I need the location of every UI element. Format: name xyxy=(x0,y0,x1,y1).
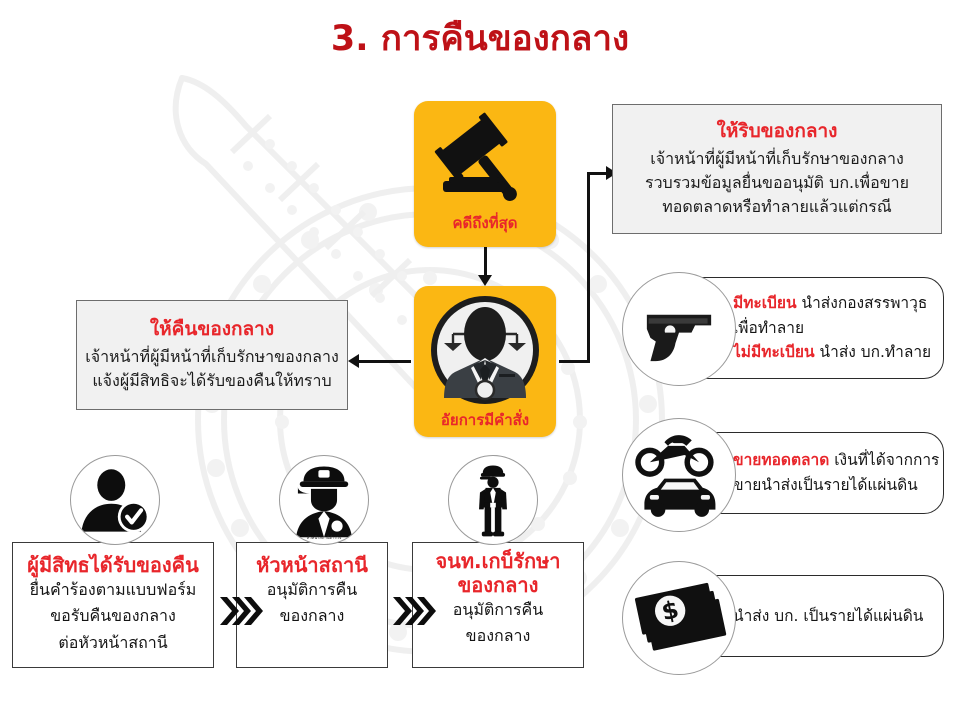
prosecutor-scales-icon xyxy=(429,294,541,406)
vehicle-line-2-text: ขายนำส่งเป็นรายได้แผ่นดิน xyxy=(733,476,918,494)
evidence-officer-line-2: ของกลาง xyxy=(466,623,531,649)
person-check-icon-badge xyxy=(70,455,160,545)
firearm-line-3: ไม่มีทะเบียน นำส่ง บก.ทำลาย xyxy=(733,340,943,365)
node-prosecutor-caption: อัยการมีคำสั่ง xyxy=(414,408,556,432)
return-heading: ให้คืนของกลาง xyxy=(150,317,274,343)
gavel-icon xyxy=(431,111,539,211)
node-case-final[interactable]: คดีถึงที่สุด xyxy=(414,101,556,247)
connector-prosecutor-right-stub xyxy=(559,360,590,363)
cash-dollar-icon-badge: $ xyxy=(622,561,736,675)
page-title: 3. การคืนของกลาง xyxy=(0,18,960,62)
arrowhead-down-prosecutor xyxy=(478,275,492,286)
step-separator-2 xyxy=(391,594,437,628)
return-line-2: แจ้งผู้มีสิทธิจะได้รับของคืนให้ทราบ xyxy=(92,369,331,393)
svg-text:หัวหน้าสถานีตำรวจ: หัวหน้าสถานีตำรวจ xyxy=(307,535,342,540)
handgun-icon xyxy=(629,279,729,379)
connector-prosecutor-to-return xyxy=(356,360,411,363)
rightful-owner-heading: ผู้มีสิทธได้รับของคืน xyxy=(27,553,198,577)
person-check-icon xyxy=(74,459,156,541)
motorcycle-car-icon xyxy=(628,424,730,526)
firearm-line-1: มีทะเบียน นำส่งกองสรรพาวุธ xyxy=(733,291,943,316)
step-box-evidence-officer: จนท.เกบ็รักษา ของกลาง อนุมัติการคืน ของก… xyxy=(412,542,584,668)
vehicle-line-1-emphasis: ขายทอดตลาด xyxy=(733,451,829,469)
node-prosecutor-order[interactable]: อัยการมีคำสั่ง xyxy=(414,286,556,437)
firearm-line-2: เพื่อทำลาย xyxy=(733,316,943,341)
money-line-1-text: นำส่ง บก. เป็นรายได้แผ่นดิน xyxy=(733,607,923,625)
money-line-1: นำส่ง บก. เป็นรายได้แผ่นดิน xyxy=(733,604,943,629)
station-chief-line-1: อนุมัติการคืน xyxy=(267,577,357,603)
confiscation-panel: ให้ริบของกลาง เจ้าหน้าที่ผู้มีหน้าที่เก็… xyxy=(612,104,942,234)
evidence-officer-line-1: อนุมัติการคืน xyxy=(453,597,543,623)
diagram-canvas: 3. การคืนของกลาง ให้ริบของกลาง เจ้าหน้าท… xyxy=(0,0,960,720)
police-standing-icon-badge xyxy=(448,455,538,545)
police-bust-icon: หัวหน้าสถานีตำรวจ xyxy=(283,459,365,541)
vehicle-line-1-text: เงินที่ได้จากการ xyxy=(829,451,939,469)
confiscation-line-3: ทอดตลาดหรือทำลายแล้วแต่กรณี xyxy=(662,195,892,219)
firearm-line-3-emphasis: ไม่มีทะเบียน xyxy=(733,343,815,361)
return-panel: ให้คืนของกลาง เจ้าหน้าที่ผู้มีหน้าที่เก็… xyxy=(76,300,348,410)
station-chief-line-2: ของกลาง xyxy=(280,603,345,629)
vehicle-line-2: ขายนำส่งเป็นรายได้แผ่นดิน xyxy=(733,473,943,498)
rightful-owner-line-2: ขอรับคืนของกลาง xyxy=(50,603,176,629)
cash-dollar-icon: $ xyxy=(629,568,729,668)
motorcycle-car-icon-badge xyxy=(622,418,736,532)
evidence-officer-heading-2: ของกลาง xyxy=(458,573,539,597)
rightful-owner-line-3: ต่อหัวหน้าสถานี xyxy=(58,630,167,656)
firearm-line-1-emphasis: มีทะเบียน xyxy=(733,294,797,312)
firearm-line-3-text: นำส่ง บก.ทำลาย xyxy=(815,343,932,361)
step-box-rightful-owner: ผู้มีสิทธได้รับของคืน ยื่นคำร้องตามแบบฟอ… xyxy=(12,542,214,668)
triple-chevron-icon xyxy=(391,594,437,628)
node-case-final-caption: คดีถึงที่สุด xyxy=(414,211,556,235)
arrowhead-left-return xyxy=(348,354,359,368)
triple-chevron-icon xyxy=(218,594,264,628)
vehicle-line-1: ขายทอดตลาด เงินที่ได้จากการ xyxy=(733,448,943,473)
connector-right-riser xyxy=(587,172,590,363)
station-chief-heading: หัวหน้าสถานี xyxy=(256,553,368,577)
firearm-line-1-text: นำส่งกองสรรพาวุธ xyxy=(797,294,928,312)
confiscation-line-2: รวบรวมข้อมูลยื่นขออนุมัติ บก.เพื่อขาย xyxy=(645,171,909,195)
handgun-icon-badge xyxy=(622,272,736,386)
confiscation-heading: ให้ริบของกลาง xyxy=(717,119,838,145)
step-separator-1 xyxy=(218,594,264,628)
firearm-line-2-text: เพื่อทำลาย xyxy=(733,319,804,337)
evidence-officer-heading-1: จนท.เกบ็รักษา xyxy=(435,549,560,573)
rightful-owner-line-1: ยื่นคำร้องตามแบบฟอร์ม xyxy=(30,577,197,603)
police-bust-icon-badge: หัวหน้าสถานีตำรวจ xyxy=(279,455,369,545)
police-standing-icon xyxy=(452,459,534,541)
confiscation-line-1: เจ้าหน้าที่ผู้มีหน้าที่เก็บรักษาของกลาง xyxy=(650,147,904,171)
return-line-1: เจ้าหน้าที่ผู้มีหน้าที่เก็บรักษาของกลาง xyxy=(85,345,339,369)
